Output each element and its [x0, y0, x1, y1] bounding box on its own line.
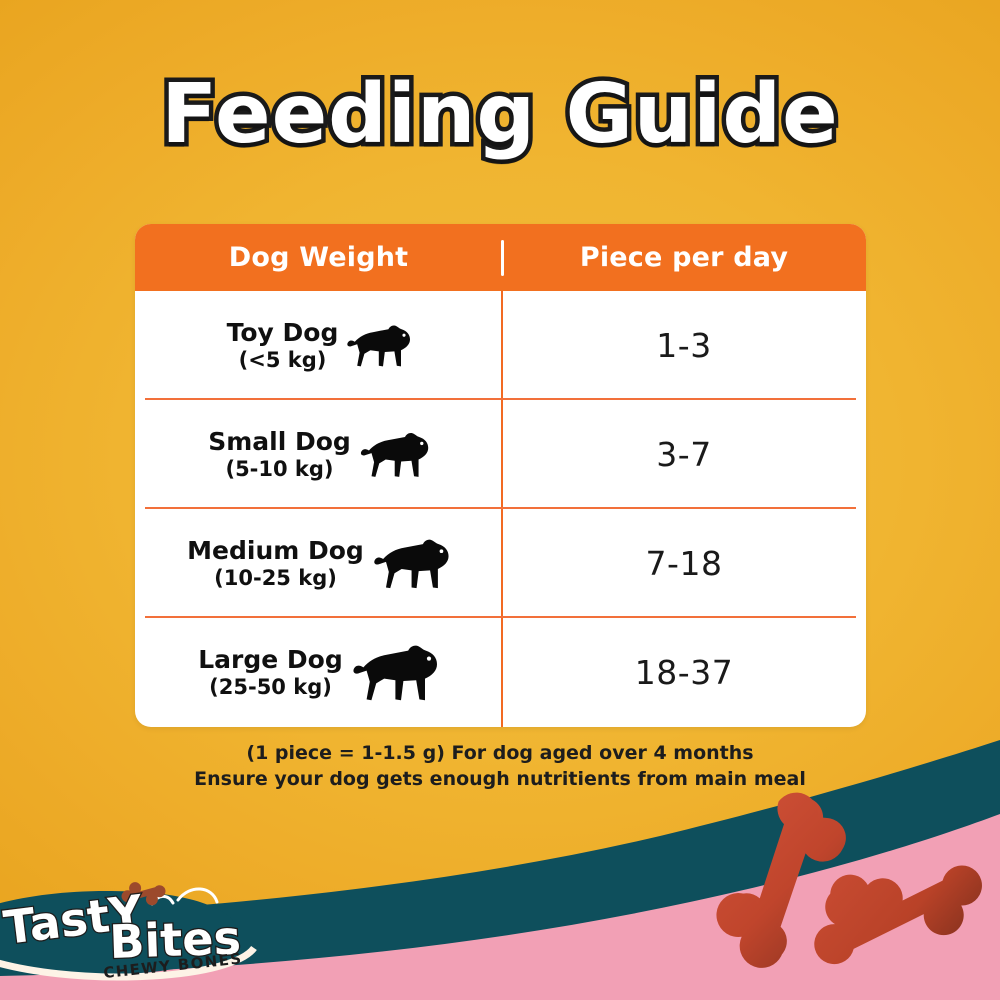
dog-size-labels: Toy Dog (<5 kg) — [227, 318, 339, 372]
pieces-value: 3-7 — [656, 435, 711, 474]
header-column-divider — [501, 240, 504, 276]
dog-size-labels: Large Dog (25-50 kg) — [198, 645, 343, 699]
table-row: Large Dog (25-50 kg) 18-37 — [135, 618, 866, 727]
dog-silhouette-icon — [370, 532, 456, 596]
cell-dog-weight: Small Dog (5-10 kg) — [135, 400, 502, 509]
dog-size-name: Toy Dog — [227, 318, 339, 348]
dog-weight-range: (5-10 kg) — [225, 457, 333, 482]
bone-treats-image — [700, 780, 1000, 1000]
dog-silhouette-icon — [357, 426, 435, 484]
page-title: Feeding Guide — [161, 74, 838, 156]
pieces-value: 7-18 — [646, 544, 723, 583]
cell-dog-weight: Medium Dog (10-25 kg) — [135, 509, 502, 618]
cell-dog-weight: Toy Dog (<5 kg) — [135, 291, 502, 400]
dog-weight-range: (10-25 kg) — [214, 566, 337, 591]
dog-weight-range: (25-50 kg) — [209, 675, 332, 700]
pieces-value: 18-37 — [635, 653, 733, 692]
cell-piece-per-day: 3-7 — [502, 400, 866, 509]
cell-piece-per-day: 7-18 — [502, 509, 866, 618]
cell-dog-weight: Large Dog (25-50 kg) — [135, 618, 502, 727]
feeding-guide-poster: Feeding Guide Dog Weight Piece per day T… — [0, 0, 1000, 1000]
cell-piece-per-day: 1-3 — [502, 291, 866, 400]
table-row: Toy Dog (<5 kg) 1-3 — [135, 291, 866, 400]
column-header-piece-per-day: Piece per day — [502, 242, 866, 273]
dog-size-labels: Small Dog (5-10 kg) — [208, 427, 351, 481]
table-header-row: Dog Weight Piece per day — [135, 224, 866, 291]
brand-logo: TastY Bites CHEWY BONES — [0, 862, 277, 982]
dog-size-name: Small Dog — [208, 427, 351, 457]
page-title-wrapper: Feeding Guide — [0, 74, 1000, 156]
column-header-dog-weight: Dog Weight — [135, 242, 502, 273]
note-line-1: (1 piece = 1-1.5 g) For dog aged over 4 … — [0, 740, 1000, 766]
pieces-value: 1-3 — [656, 326, 711, 365]
table-body: Toy Dog (<5 kg) 1-3 Small Dog — [135, 291, 866, 727]
feeding-table-card: Dog Weight Piece per day Toy Dog (<5 kg) — [135, 224, 866, 727]
cell-piece-per-day: 18-37 — [502, 618, 866, 727]
table-row: Small Dog (5-10 kg) 3-7 — [135, 400, 866, 509]
dog-silhouette-icon — [344, 319, 416, 373]
dog-weight-range: (<5 kg) — [239, 348, 327, 373]
dog-size-name: Medium Dog — [187, 536, 364, 566]
dog-silhouette-icon — [349, 637, 445, 709]
dog-size-labels: Medium Dog (10-25 kg) — [187, 536, 364, 590]
dog-size-name: Large Dog — [198, 645, 343, 675]
table-row: Medium Dog (10-25 kg) 7-18 — [135, 509, 866, 618]
